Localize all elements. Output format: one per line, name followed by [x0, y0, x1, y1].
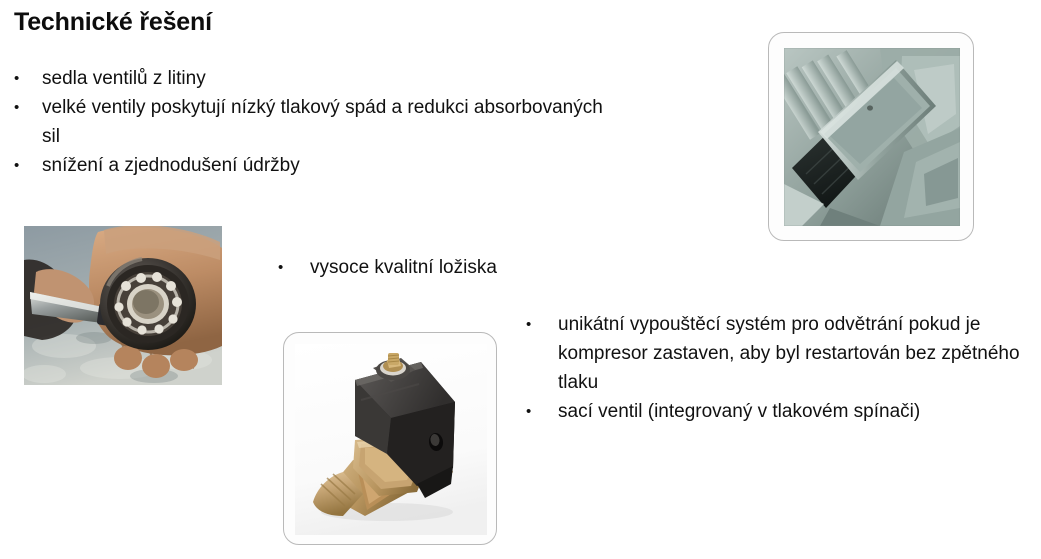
compressor-block-photo — [784, 48, 960, 226]
valve-features-list: • unikátní vypouštěcí systém pro odvětrá… — [526, 310, 1026, 426]
list-item-label: sedla ventilů z litiny — [42, 64, 614, 93]
bearing-feature-list: • vysoce kvalitní ložiska — [278, 253, 598, 282]
list-item: • sací ventil (integrovaný v tlakovém sp… — [526, 397, 1026, 426]
list-item-label: snížení a zjednodušení údržby — [42, 151, 614, 180]
list-item-label: sací ventil (integrovaný v tlakovém spín… — [558, 397, 1026, 426]
page-title: Technické řešení — [14, 8, 212, 37]
solenoid-valve-illustration — [295, 344, 487, 535]
list-item-label: unikátní vypouštěcí systém pro odvětrání… — [558, 310, 1026, 397]
compressor-block-photo-frame — [768, 32, 974, 241]
solenoid-valve-photo-frame — [283, 332, 497, 545]
bullet-icon: • — [14, 151, 19, 180]
list-item: • velké ventily poskytují nízký tlakový … — [14, 93, 614, 151]
list-item: • snížení a zjednodušení údržby — [14, 151, 614, 180]
solenoid-valve-photo — [295, 344, 487, 535]
bearing-in-hand-photo — [24, 226, 222, 385]
bullet-icon: • — [526, 310, 531, 339]
bullet-icon: • — [14, 93, 19, 122]
bullet-icon: • — [278, 253, 283, 282]
list-item: • sedla ventilů z litiny — [14, 64, 614, 93]
bearing-in-hand-illustration — [24, 226, 222, 385]
list-item: • vysoce kvalitní ložiska — [278, 253, 598, 282]
list-item-label: velké ventily poskytují nízký tlakový sp… — [42, 93, 614, 151]
bullet-icon: • — [526, 397, 531, 426]
list-item-label: vysoce kvalitní ložiska — [310, 253, 598, 282]
technical-features-list: • sedla ventilů z litiny • velké ventily… — [14, 64, 614, 180]
bullet-icon: • — [14, 64, 19, 93]
list-item: • unikátní vypouštěcí systém pro odvětrá… — [526, 310, 1026, 397]
compressor-block-illustration — [784, 48, 960, 226]
